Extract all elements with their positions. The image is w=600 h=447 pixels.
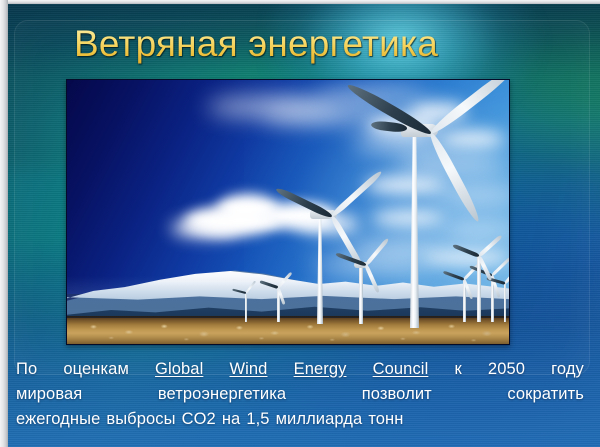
presentation-slide: Ветряная энергетика Ветряная энергетика	[0, 0, 600, 447]
photo-ground-stones	[67, 322, 509, 345]
page-title: Ветряная энергетика	[74, 22, 438, 66]
body-line-3: ежегодные выбросы CO2 на 1,5 миллиарда т…	[16, 407, 584, 432]
turbine-tower	[504, 284, 506, 322]
wind-farm-photo	[66, 79, 510, 345]
cloud	[171, 218, 241, 238]
link-word[interactable]: Council	[373, 357, 429, 382]
link-word[interactable]: Energy	[294, 357, 347, 382]
link-word[interactable]: Wind	[229, 357, 267, 382]
cloud	[439, 130, 505, 148]
page-edge-left	[0, 0, 8, 447]
body-line-2: мировая ветроэнергетика позволит сократи…	[16, 382, 584, 407]
turbine-tower	[477, 256, 481, 322]
link-word[interactable]: Global	[155, 357, 203, 382]
body-line-1: По оценкам Global Wind Energy Council к …	[16, 357, 584, 382]
page-edge-top	[0, 0, 600, 4]
turbine-tower	[245, 294, 247, 322]
turbine-tower	[359, 266, 363, 324]
cloud	[263, 106, 383, 124]
cloud	[371, 210, 445, 226]
slide-body-text: По оценкам Global Wind Energy Council к …	[16, 357, 584, 432]
